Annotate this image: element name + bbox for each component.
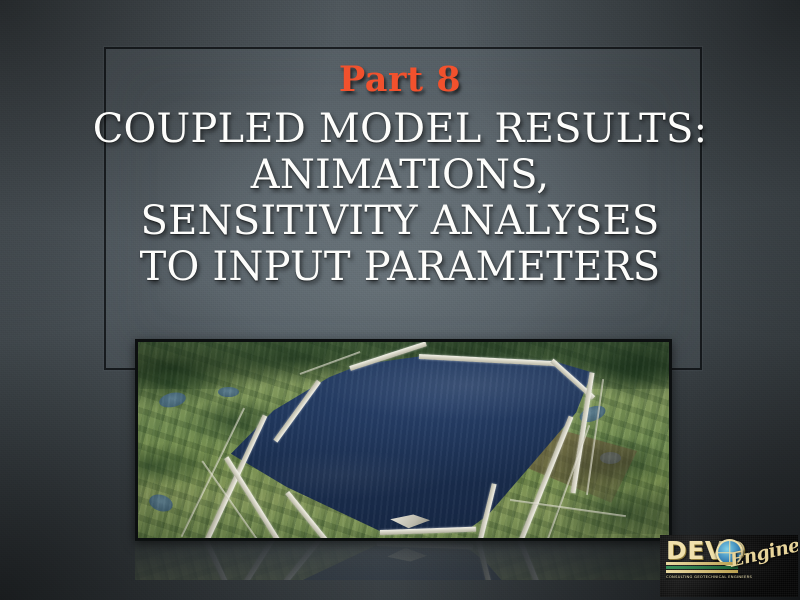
presentation-slide: Part 8 COUPLED MODEL RESULTS: ANIMATIONS… bbox=[0, 0, 800, 600]
logo-tagline: CONSULTING GEOTECHNICAL ENGINEERS bbox=[666, 574, 744, 580]
photo-small-pond bbox=[218, 387, 239, 397]
logo-rule-green bbox=[666, 566, 738, 569]
logo-rule-gold-bottom bbox=[666, 570, 738, 573]
logo-rule-gold-top bbox=[666, 562, 738, 565]
photo-canvas bbox=[138, 342, 669, 538]
devo-engineering-logo: DEVO CONSULTING GEOTECHNICAL ENGINEERS E… bbox=[660, 535, 798, 597]
title-frame-border bbox=[104, 47, 702, 370]
reservoir-aerial-photo bbox=[135, 339, 672, 541]
